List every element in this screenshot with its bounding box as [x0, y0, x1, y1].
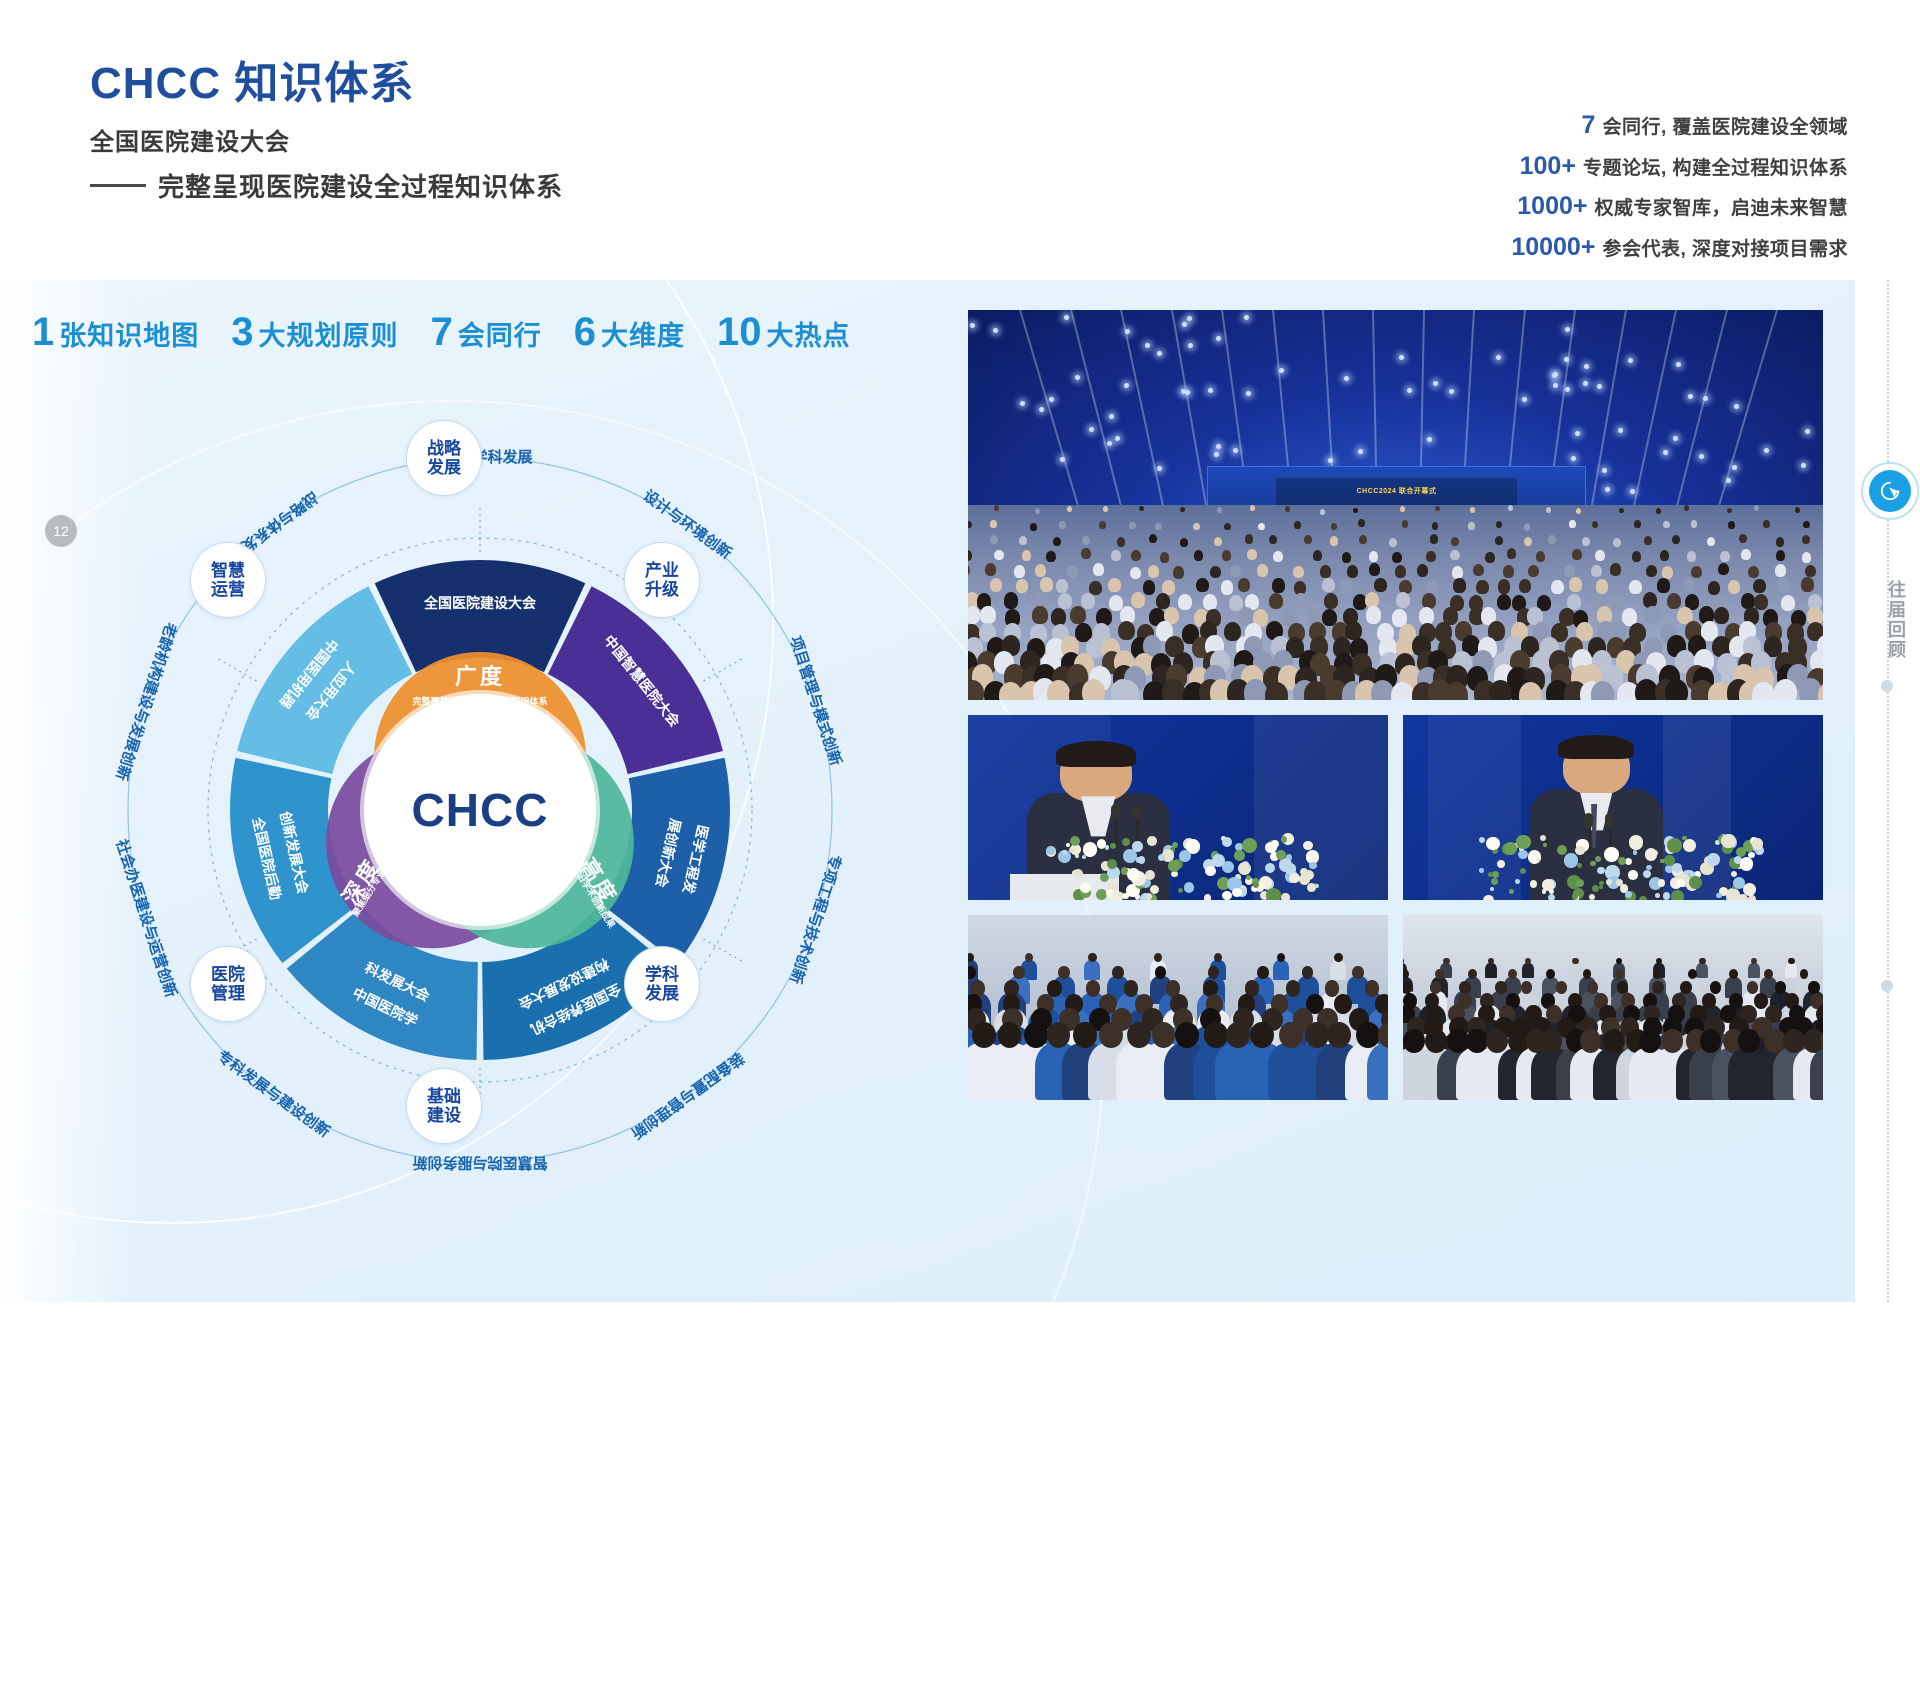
audience-head: [1081, 548, 1091, 559]
ceiling-light: [1089, 427, 1094, 432]
audience-person: [1522, 963, 1534, 978]
ceiling-light: [1208, 388, 1213, 393]
stat-row: 100+ 专题论坛, 构建全过程知识体系: [1511, 146, 1848, 187]
audience-head: [1088, 953, 1096, 962]
ceiling-light: [1115, 436, 1120, 441]
dimension-bubble-line: 发展: [645, 984, 679, 1003]
audience-head: [1130, 567, 1141, 580]
audience-head: [1293, 566, 1304, 579]
audience-head: [1619, 508, 1624, 514]
audience-head: [1497, 594, 1511, 610]
outer-arc-label: 项目管理与模式创新: [786, 634, 845, 768]
counter-row: 1 张知识地图 3 大规划原则 7 会同行 6 大维度 10 大热点: [32, 310, 851, 355]
audience-head: [1657, 578, 1670, 592]
audience-head: [1139, 506, 1144, 512]
ceiling-beam: [1633, 310, 1677, 508]
audience-head: [980, 606, 996, 624]
audience-head: [1519, 579, 1532, 593]
past-review-button[interactable]: [1861, 462, 1919, 520]
audience-head: [990, 520, 997, 527]
counter-label: 大规划原则: [259, 321, 399, 351]
stat-number: 7: [1582, 111, 1596, 139]
audience-head: [1452, 566, 1463, 579]
photo-gallery: CHCC2024 联合开幕式: [968, 310, 1823, 1275]
dimension-bubble-line: 智慧: [211, 561, 245, 580]
audience-head: [1774, 679, 1797, 700]
audience-head: [1320, 565, 1331, 578]
audience-head: [1435, 506, 1440, 512]
audience-head: [1245, 534, 1253, 543]
ceiling-light: [1075, 375, 1080, 380]
ceiling-light: [1124, 383, 1129, 388]
audience-head: [968, 550, 972, 561]
audience-head: [1369, 551, 1379, 562]
audience-head: [1014, 565, 1025, 578]
dimension-bubble-management[interactable]: 医院管理: [190, 946, 266, 1022]
ceiling-light: [1597, 384, 1602, 389]
audience-head: [1403, 1029, 1425, 1053]
audience-head: [1536, 551, 1546, 562]
audience-head: [1576, 508, 1581, 514]
audience-head: [1485, 552, 1495, 563]
dimension-bubble-foundation[interactable]: 基础建设: [406, 1068, 482, 1144]
audience-head: [1294, 593, 1308, 609]
ceiling-light: [1060, 457, 1065, 462]
audience-head: [1688, 969, 1697, 979]
ceiling-light: [1699, 454, 1704, 459]
audience-person: [1273, 960, 1289, 980]
ceiling-light: [1279, 368, 1284, 373]
audience-head: [1728, 521, 1735, 528]
audience-head: [1022, 550, 1032, 561]
audience-head: [1548, 535, 1556, 544]
ceiling-light: [1496, 355, 1501, 360]
photo-opening-ceremony[interactable]: CHCC2024 联合开幕式: [968, 310, 1823, 700]
ceiling-light: [1605, 487, 1610, 492]
audience-head: [1035, 508, 1040, 514]
stat-number: 10000+: [1511, 233, 1595, 261]
audience-head: [1131, 592, 1145, 608]
header-stats: 7 会同行, 覆盖医院建设全领域 100+ 专题论坛, 构建全过程知识体系 10…: [1511, 105, 1848, 267]
audience-head: [1753, 579, 1766, 593]
audience-head: [1569, 577, 1582, 591]
audience-head: [1273, 551, 1283, 562]
audience-head: [1495, 981, 1506, 994]
audience-head: [1058, 593, 1072, 609]
audience-head: [1143, 580, 1156, 594]
counter-label: 大维度: [601, 321, 685, 351]
audience-head: [1729, 969, 1738, 979]
ceiling-light: [1244, 315, 1249, 320]
audience-head: [1691, 566, 1702, 579]
dimension-bubble-line: 医院: [211, 965, 245, 984]
audience-head: [1131, 550, 1141, 561]
ceiling-light: [1157, 351, 1162, 356]
ceiling-light: [1187, 316, 1192, 321]
audience-head: [1155, 523, 1162, 530]
audience-head: [1103, 506, 1108, 512]
content-panel: 1 张知识地图 3 大规划原则 7 会同行 6 大维度 10 大热点 12: [0, 280, 1855, 1302]
ceiling-light: [1246, 391, 1251, 396]
audience-person: [1748, 963, 1760, 978]
audience-head: [968, 564, 970, 577]
audience-head: [1272, 578, 1285, 592]
audience-head: [1099, 1022, 1123, 1049]
audience-head: [1699, 958, 1705, 965]
stat-text: 权威专家智库，启迪未来智慧: [1594, 198, 1848, 219]
audience-head: [1250, 505, 1255, 511]
ceiling-light: [1688, 394, 1693, 399]
dimension-bubble-operation[interactable]: 智慧运营: [190, 542, 266, 618]
audience-head: [1546, 969, 1555, 979]
audience-head: [1450, 550, 1460, 561]
audience-head: [1435, 969, 1444, 979]
counter-number: 1: [32, 310, 54, 354]
stat-text: 会同行, 覆盖医院建设全领域: [1602, 117, 1848, 138]
audience-head: [1667, 593, 1681, 609]
audience-head: [1802, 552, 1812, 563]
photo-speaker-1[interactable]: [968, 715, 1388, 900]
ceiling-light: [1732, 465, 1737, 470]
ceiling-beam: [1718, 310, 1777, 505]
audience-head: [1662, 566, 1673, 579]
audience-head: [968, 521, 972, 528]
stat-row: 1000+ 权威专家智库，启迪未来智慧: [1511, 186, 1848, 227]
audience-head: [1808, 981, 1819, 994]
audience-head: [1728, 580, 1741, 594]
audience-head: [1247, 549, 1257, 560]
ceiling-beam: [1675, 310, 1727, 507]
audience-head: [1203, 594, 1217, 610]
audience-head: [1672, 535, 1680, 544]
audience-head: [1652, 981, 1663, 994]
audience-head: [1108, 578, 1121, 592]
audience-figures-1: [968, 915, 1388, 1100]
ceiling-light: [1553, 372, 1558, 377]
outer-arc-label: 老龄机构建设与发展创新: [112, 619, 180, 782]
audience-head: [1683, 578, 1696, 592]
audience-head: [1004, 592, 1018, 608]
audience-head: [1324, 593, 1338, 609]
dimension-bubble-line: 基础: [427, 1087, 461, 1106]
outer-arc-label: 装备配置与管理创新: [628, 1048, 749, 1143]
audience-head: [1304, 681, 1327, 700]
audience-head: [1334, 994, 1352, 1014]
audience-head: [1714, 607, 1730, 625]
audience-head: [1148, 565, 1159, 578]
ceiling-light: [1109, 414, 1114, 419]
ceiling-light: [1216, 336, 1221, 341]
ceiling-beam: [1171, 310, 1207, 510]
audience-head: [1369, 563, 1380, 576]
photo-row-3: [968, 915, 1823, 1100]
audience-head: [1244, 679, 1267, 700]
audience-head: [1277, 953, 1285, 962]
audience-head: [1665, 679, 1688, 700]
audience-head: [1617, 981, 1628, 994]
audience-head: [1214, 537, 1222, 546]
audience-head: [1629, 580, 1642, 594]
audience-head: [1644, 536, 1652, 545]
audience-head: [994, 505, 999, 511]
audience-head: [1781, 595, 1795, 611]
audience-head: [999, 682, 1022, 700]
audience-head: [1528, 565, 1539, 578]
audience-head: [1710, 981, 1721, 994]
ceiling-light: [1565, 387, 1570, 392]
dimension-bubble-strategy[interactable]: 战略发展: [406, 420, 482, 496]
audience-head: [1451, 537, 1459, 546]
audience-head: [1112, 966, 1123, 979]
page-number-badge: 12: [45, 515, 77, 547]
ceiling-light: [1344, 376, 1349, 381]
ceiling-light: [1663, 450, 1668, 455]
audience-head: [1720, 551, 1730, 562]
ceiling-light: [1433, 381, 1438, 386]
audience-head: [1124, 980, 1139, 996]
ceiling-light: [1107, 441, 1112, 446]
audience-head: [1503, 565, 1514, 578]
audience-head: [1366, 606, 1382, 624]
audience-head: [1656, 508, 1661, 514]
audience-head: [1352, 966, 1363, 979]
audience-head: [1279, 1022, 1303, 1049]
audience-head: [985, 563, 996, 576]
counter-item: 6 大维度: [574, 310, 685, 355]
audience-head: [1320, 509, 1325, 515]
ceiling-light: [1125, 329, 1130, 334]
ceiling-light: [1764, 448, 1769, 453]
dimension-bubble-line: 产业: [645, 561, 679, 580]
outer-arc-label: 专科发展与建设创新: [214, 1047, 334, 1141]
ceiling-light: [1020, 401, 1025, 406]
audience-head: [1180, 507, 1185, 513]
audience-head: [1489, 680, 1512, 700]
audience-head: [1751, 958, 1757, 965]
ceiling-light: [1214, 452, 1219, 457]
audience-head: [1230, 565, 1241, 578]
dimension-bubble-line: 发展: [427, 458, 461, 477]
ceiling-light: [1188, 343, 1193, 348]
audience-head: [1591, 565, 1602, 578]
audience-head: [1417, 564, 1428, 577]
audience-head: [1070, 606, 1086, 624]
audience-head: [1040, 577, 1053, 591]
photo-row-2: [968, 715, 1823, 900]
audience-head: [1470, 507, 1475, 513]
stat-row: 7 会同行, 覆盖医院建设全领域: [1511, 105, 1848, 146]
ceiling-light: [1565, 327, 1570, 332]
audience-head: [1741, 549, 1751, 560]
ceiling-light: [1407, 388, 1412, 393]
audience-head: [1582, 537, 1590, 546]
rail-label: 往届回顾: [1883, 580, 1909, 660]
audience-head: [1374, 578, 1387, 592]
counter-item: 1 张知识地图: [32, 310, 199, 355]
audience-head: [1046, 551, 1056, 562]
speaker-hair: [1558, 735, 1634, 759]
outer-arc-label: 智慧医院与服务创新: [412, 1154, 547, 1172]
audience-head: [1805, 565, 1816, 578]
bubble-connector: [703, 659, 741, 681]
audience-head: [1154, 953, 1162, 962]
stat-text: 参会代表, 深度对接项目需求: [1602, 239, 1848, 260]
audience-head: [1258, 523, 1265, 530]
ceiling-light: [1575, 431, 1580, 436]
audience-head: [1459, 981, 1470, 994]
audience-head: [1214, 953, 1222, 962]
counter-item: 3 大规划原则: [231, 310, 398, 355]
audience-head: [1632, 551, 1642, 562]
audience-head: [1777, 578, 1790, 592]
microphone-head: [1132, 804, 1141, 819]
audience-head: [1402, 520, 1409, 527]
audience-head: [1396, 592, 1410, 608]
audience-head: [1508, 505, 1513, 511]
audience-head: [1117, 537, 1125, 546]
audience-head: [1572, 958, 1578, 965]
audience-head: [1073, 1022, 1097, 1049]
audience-person: [1785, 963, 1797, 978]
audience-head: [1342, 552, 1352, 563]
audience-head: [1250, 1022, 1274, 1049]
ceiling-light: [1064, 315, 1069, 320]
audience-person: [1330, 960, 1346, 980]
photo-speaker-2[interactable]: [1403, 715, 1823, 900]
rail-dot: [1881, 980, 1893, 992]
audience-head: [1473, 564, 1484, 577]
audience-head: [1035, 564, 1046, 577]
audience-head: [990, 535, 998, 544]
audience-head: [1162, 679, 1185, 700]
audience-head: [1173, 566, 1184, 579]
audience-head: [1304, 535, 1312, 544]
audience-head: [1727, 508, 1732, 514]
audience-head: [1032, 606, 1048, 624]
counter-label: 张知识地图: [59, 321, 199, 351]
microphone-head: [1111, 804, 1120, 819]
audience-head: [1400, 506, 1405, 512]
audience-head: [1569, 520, 1576, 527]
audience-head: [1507, 548, 1517, 559]
audience-head: [1592, 521, 1599, 528]
ceiling-light: [1039, 407, 1044, 412]
audience-head: [1496, 521, 1503, 528]
audience-head: [1099, 521, 1106, 528]
ceiling-light: [1182, 322, 1187, 327]
audience-head: [1325, 980, 1340, 996]
audience-head: [1445, 682, 1468, 700]
audience-head: [1663, 521, 1670, 528]
counter-item: 10 大热点: [717, 310, 851, 355]
audience-head: [1365, 980, 1380, 996]
ceiling-light: [1358, 449, 1363, 454]
photo-audience-crowd[interactable]: [1403, 915, 1823, 1100]
backdrop-panel: [1663, 715, 1730, 900]
audience-person: [1084, 960, 1100, 980]
audience-head: [1222, 550, 1232, 561]
audience-head: [1269, 593, 1283, 609]
audience-head: [1702, 993, 1716, 1009]
audience-head: [1257, 564, 1268, 577]
ceiling-light: [1049, 397, 1054, 402]
audience-head: [1546, 507, 1551, 513]
audience-head: [1118, 621, 1135, 641]
audience-head: [1718, 563, 1729, 576]
counter-number: 10: [717, 310, 762, 354]
audience-head: [1498, 579, 1511, 593]
outer-arc-label: 专项工程与技术创新: [786, 852, 845, 986]
audience-head: [1754, 505, 1759, 511]
ceiling-beam: [1070, 310, 1122, 507]
audience-head: [1776, 537, 1784, 546]
photo-audience-photographing[interactable]: [968, 915, 1388, 1100]
dimension-bubble-industry[interactable]: 产业升级: [624, 542, 700, 618]
bubble-connector: [703, 939, 741, 961]
audience-head: [968, 606, 980, 624]
backdrop-panel: [1428, 715, 1520, 900]
audience-head: [1802, 535, 1810, 544]
audience-head: [1053, 537, 1061, 546]
audience-head: [1803, 521, 1810, 528]
audience-head: [1392, 552, 1402, 563]
audience-head: [1680, 981, 1691, 994]
audience-head: [1639, 1029, 1661, 1053]
audience-head: [1059, 521, 1066, 528]
counter-number: 3: [231, 310, 253, 354]
audience-head: [1468, 522, 1475, 529]
audience-head: [1708, 581, 1721, 595]
audience-head: [1551, 580, 1564, 594]
audience-head: [1653, 969, 1662, 979]
audience-head: [1330, 536, 1338, 545]
ceiling-light: [1618, 428, 1623, 433]
dimension-bubble-discipline[interactable]: 学科发展: [624, 946, 700, 1022]
audience-head: [1067, 506, 1072, 512]
audience-head: [1775, 564, 1786, 577]
ceiling-light: [1703, 396, 1708, 401]
audience-head: [1524, 537, 1532, 546]
counter-item: 7 会同行: [431, 310, 542, 355]
audience-head: [1662, 1029, 1684, 1053]
audience-head: [1795, 507, 1800, 513]
audience-head: [1224, 523, 1231, 530]
audience-person: [1367, 1043, 1388, 1101]
audience-head: [994, 550, 1004, 561]
audience-head: [1257, 966, 1268, 979]
audience-head: [1645, 606, 1661, 624]
knowledge-wheel-diagram: 全国医院建设大会中国智慧医院大会医学工程发展创新大会全国医养结合机构建设发展大会…: [60, 390, 900, 1230]
dimension-bubble-line: 运营: [211, 580, 245, 599]
ceiling-light: [1449, 389, 1454, 394]
audience-head: [1660, 550, 1670, 561]
audience-head: [1149, 534, 1157, 543]
ceiling-light: [1157, 466, 1162, 471]
audience-head: [1322, 578, 1335, 592]
audience-head: [1013, 966, 1024, 979]
ceiling-light: [1602, 468, 1607, 473]
ceiling-light: [1584, 364, 1589, 369]
audience-head: [1016, 579, 1029, 593]
audience-head: [1788, 958, 1794, 965]
dimension-bubble-line: 管理: [211, 984, 245, 1003]
audience-head: [1353, 508, 1358, 514]
audience-head: [1691, 520, 1698, 527]
audience-head: [1748, 566, 1759, 579]
audience-head: [1738, 1029, 1760, 1053]
stat-number: 1000+: [1517, 192, 1587, 220]
audience-head: [1334, 953, 1342, 962]
